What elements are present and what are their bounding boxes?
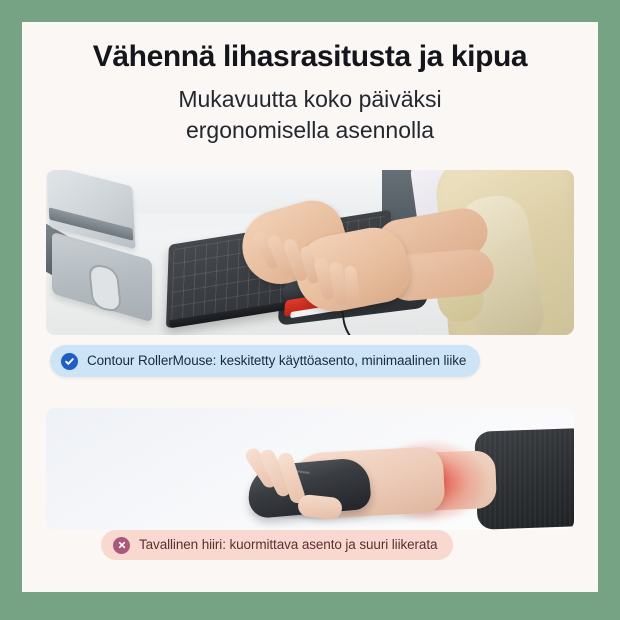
page-title: Vähennä lihasrasitusta ja kipua bbox=[22, 40, 598, 74]
poster-root: Vähennä lihasrasitusta ja kipua Mukavuut… bbox=[0, 0, 620, 620]
check-circle-icon bbox=[61, 353, 78, 370]
image-panel-standard-mouse bbox=[46, 408, 574, 530]
content-card: Vähennä lihasrasitusta ja kipua Mukavuut… bbox=[22, 22, 598, 592]
status-badge-standard-mouse: Tavallinen hiiri: kuormittava asento ja … bbox=[101, 530, 453, 560]
heading-block: Vähennä lihasrasitusta ja kipua Mukavuut… bbox=[22, 40, 598, 147]
x-circle-icon bbox=[113, 537, 130, 554]
status-badge-label: Tavallinen hiiri: kuormittava asento ja … bbox=[139, 538, 437, 552]
status-badge-label: Contour RollerMouse: keskitetty käyttöas… bbox=[87, 354, 466, 368]
image-panel-ergonomic bbox=[46, 170, 574, 335]
subtitle-line-1: Mukavuutta koko päiväksi bbox=[22, 84, 598, 116]
subtitle-line-2: ergonomisella asennolla bbox=[22, 115, 598, 147]
status-badge-rollermouse: Contour RollerMouse: keskitetty käyttöas… bbox=[50, 345, 480, 377]
